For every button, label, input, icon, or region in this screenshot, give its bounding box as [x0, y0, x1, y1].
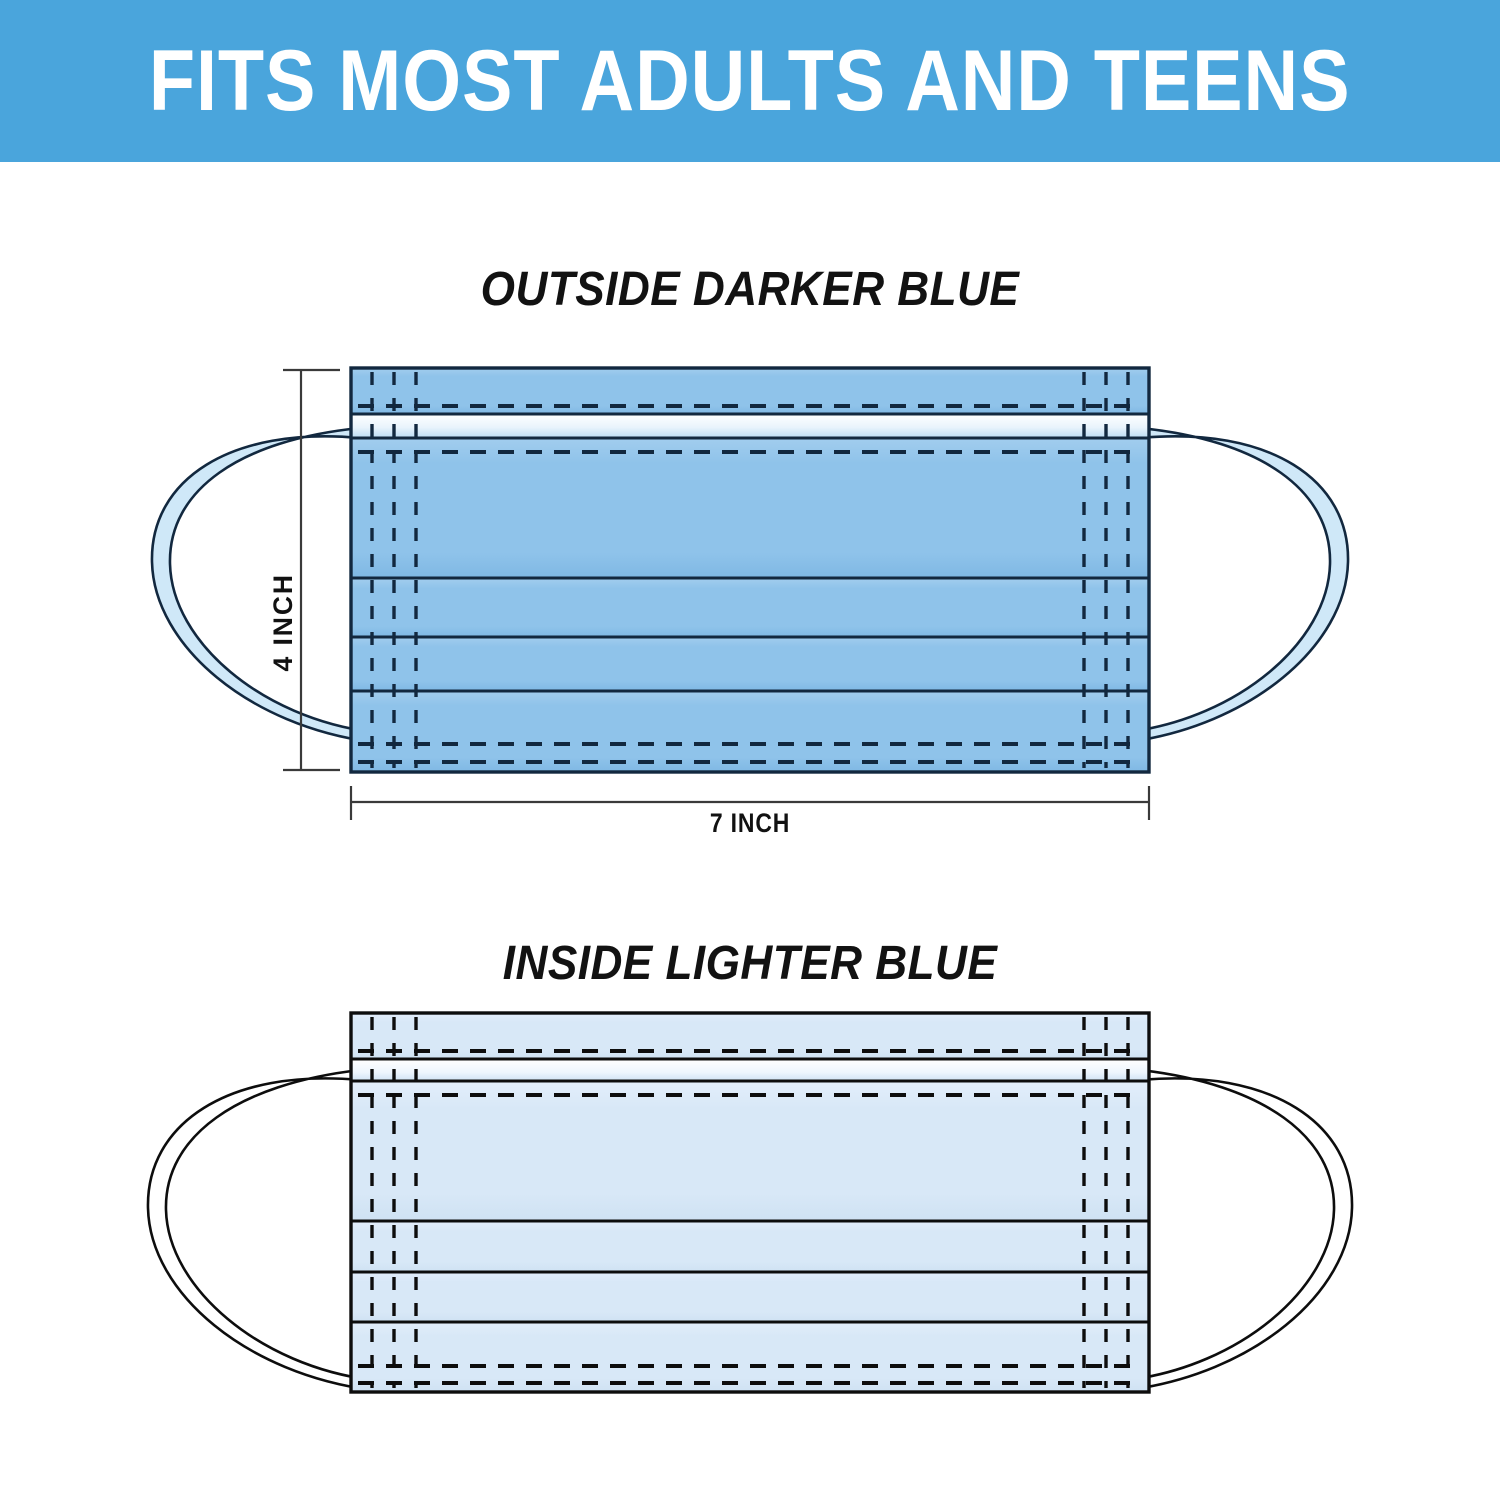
- section-title-inside: INSIDE LIGHTER BLUE: [60, 936, 1440, 991]
- earloop-right: [1128, 1070, 1352, 1390]
- mask-body-outside: [351, 368, 1149, 772]
- section-title-outside: OUTSIDE DARKER BLUE: [60, 262, 1440, 317]
- earloop-left: [148, 1070, 372, 1390]
- earloop-left: [152, 428, 372, 742]
- header-banner: FITS MOST ADULTS AND TEENS: [0, 0, 1500, 162]
- mask-body-inside: [351, 1013, 1149, 1392]
- dimension-height-label: 4 INCH: [268, 573, 299, 672]
- dimension-width-label: 7 INCH: [113, 808, 1388, 839]
- mask-diagram-outside: [0, 330, 1500, 850]
- earloop-right: [1128, 428, 1348, 742]
- banner-title: FITS MOST ADULTS AND TEENS: [149, 38, 1351, 124]
- mask-diagram-inside: [0, 990, 1500, 1440]
